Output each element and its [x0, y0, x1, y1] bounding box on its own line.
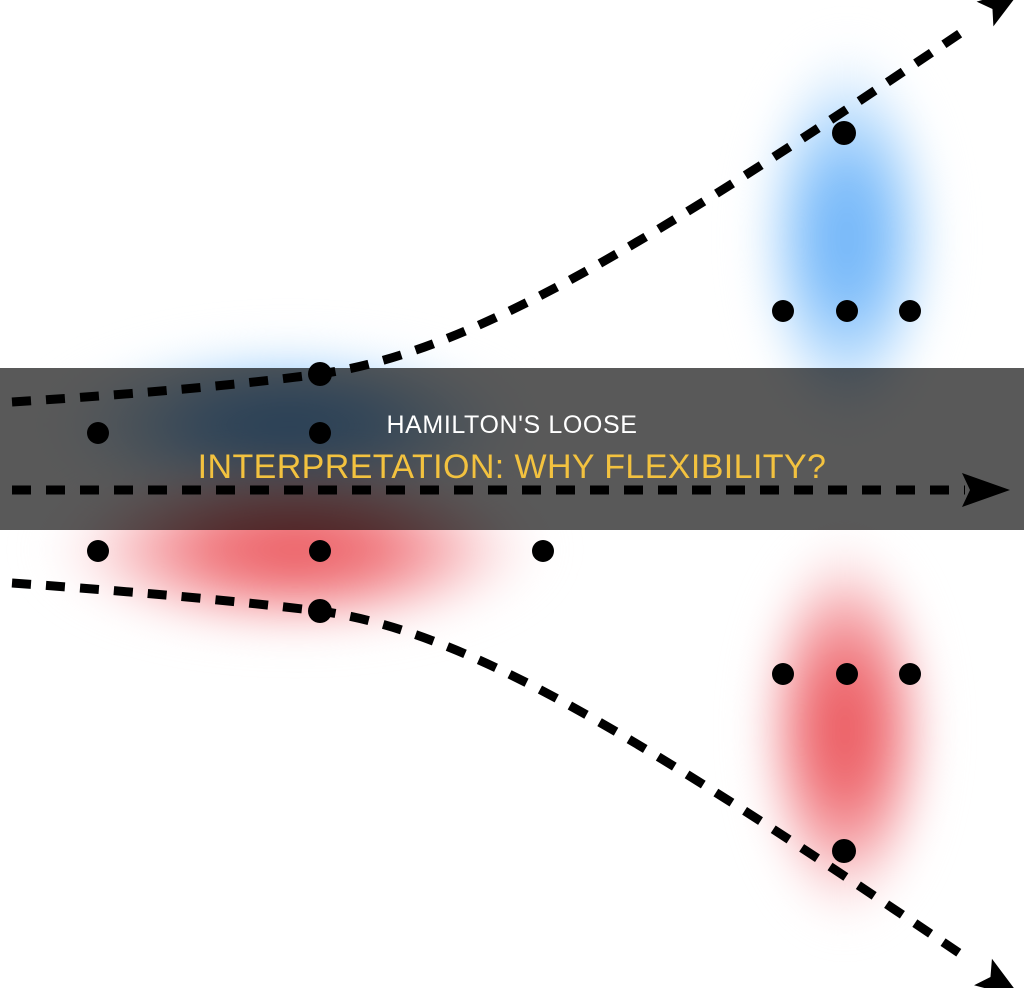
infographic-canvas: HAMILTON'S LOOSE INTERPRETATION: WHY FLE…	[0, 0, 1024, 988]
dot-red-left-d	[308, 599, 332, 623]
dot-blue-right-c	[899, 300, 921, 322]
dot-red-right-d	[832, 839, 856, 863]
lower-descending-curve	[12, 583, 968, 959]
dot-red-right-c	[899, 663, 921, 685]
caption-band: HAMILTON'S LOOSE INTERPRETATION: WHY FLE…	[0, 368, 1024, 530]
dot-blue-right-a	[772, 300, 794, 322]
dot-red-right-b	[836, 663, 858, 685]
dot-blue-right-d	[832, 121, 856, 145]
dot-red-left-a	[87, 540, 109, 562]
upper-ascending-curve	[12, 28, 968, 402]
dot-red-right-a	[772, 663, 794, 685]
dot-red-left-b	[309, 540, 331, 562]
caption-title-line-2: INTERPRETATION: WHY FLEXIBILITY?	[198, 449, 827, 486]
lower-curve-arrowhead	[974, 959, 1024, 988]
upper-curve-arrowhead	[977, 0, 1024, 26]
caption-title-line-1: HAMILTON'S LOOSE	[386, 412, 637, 439]
dot-red-left-c	[532, 540, 554, 562]
dot-blue-right-b	[836, 300, 858, 322]
